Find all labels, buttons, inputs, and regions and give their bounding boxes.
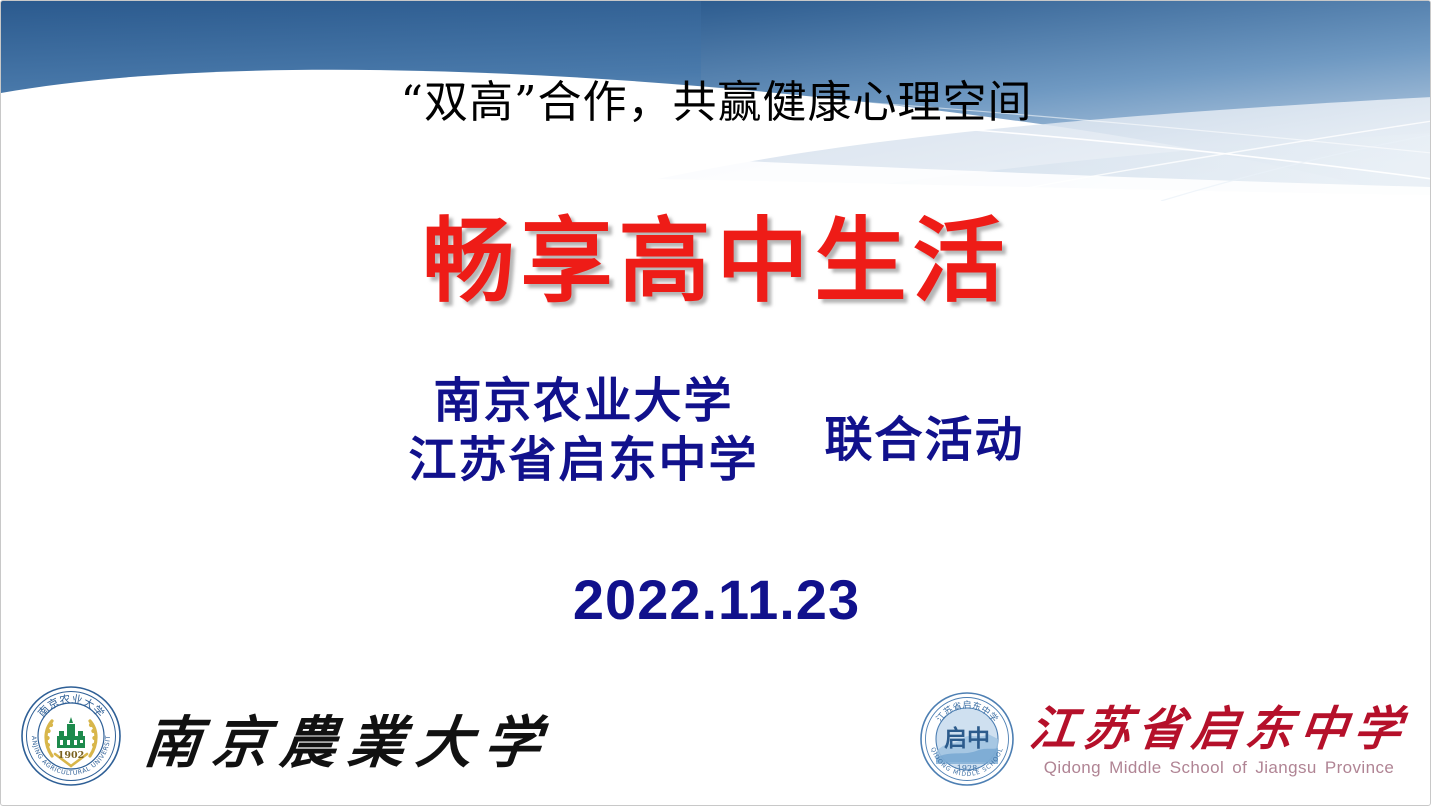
organization-line-university: 南京农业大学	[433, 373, 733, 432]
nanjing-agricultural-university-logo: 南京农业大学 NANJING AGRICULTURAL UNIVERSITY	[19, 684, 553, 793]
qidong-middle-school-text-block: 江苏省启东中学 Qidong Middle School of Jiangsu …	[1030, 705, 1408, 777]
joint-activity-label: 联合活动	[825, 400, 1025, 470]
slide-main-title: 畅享高中生活	[1, 213, 1431, 312]
nanjing-agricultural-university-emblem-icon: 南京农业大学 NANJING AGRICULTURAL UNIVERSITY	[19, 684, 123, 793]
organizations-block: 南京农业大学 江苏省启东中学 联合活动	[1, 373, 1431, 490]
svg-text:·1928·: ·1928·	[954, 764, 979, 773]
organization-line-school: 江苏省启东中学	[408, 432, 758, 491]
presentation-slide: “双高”合作，共赢健康心理空间 畅享高中生活 南京农业大学 江苏省启东中学 联合…	[0, 0, 1431, 806]
qidong-middle-school-wordmark: 江苏省启东中学	[1027, 705, 1411, 754]
svg-text:1902: 1902	[58, 750, 84, 761]
svg-text:启中: 启中	[944, 725, 990, 752]
nanjing-agricultural-university-wordmark: 南京農業大学	[141, 698, 558, 779]
qidong-middle-school-logo: 启中 江苏省启东中学 QIDONG MIDDLE SCHOOL ·1928· 江…	[918, 690, 1408, 793]
slide-date: 2022.11.23	[1, 567, 1431, 632]
slide-header-title: “双高”合作，共赢健康心理空间	[1, 80, 1431, 126]
organization-names: 南京农业大学 江苏省启东中学	[408, 373, 758, 490]
qidong-middle-school-emblem-icon: 启中 江苏省启东中学 QIDONG MIDDLE SCHOOL ·1928·	[918, 690, 1016, 793]
qidong-middle-school-english-name: Qidong Middle School of Jiangsu Province	[1044, 758, 1394, 778]
